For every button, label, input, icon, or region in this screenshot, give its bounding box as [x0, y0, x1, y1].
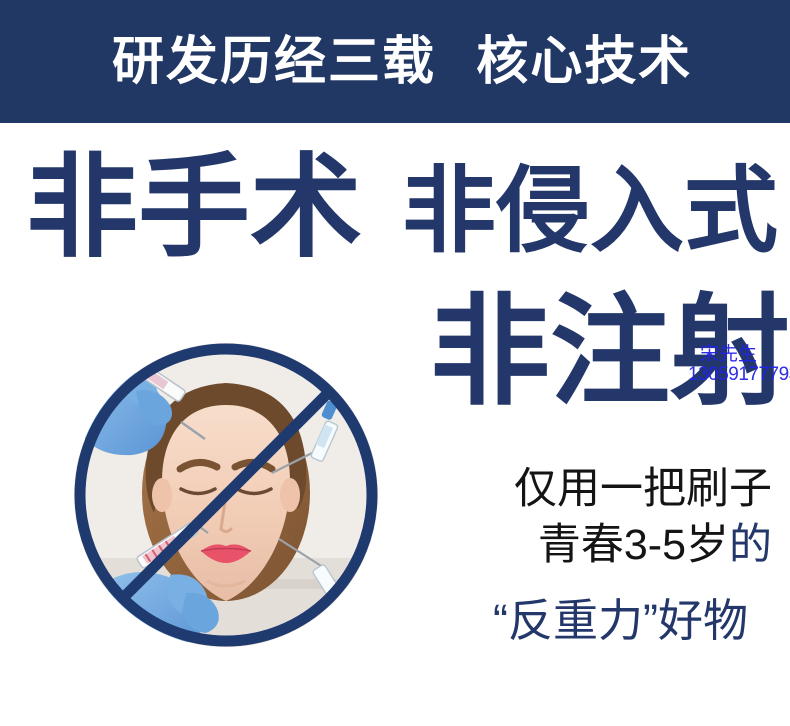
headline-non-injection: 非注射: [430, 292, 790, 412]
subcopy-block: 仅用一把刷子 青春3-5岁的: [392, 462, 772, 574]
subcopy-line-2-plain: 青春3-5岁: [538, 521, 729, 569]
header-banner: 研发历经三载 核心技术: [0, 0, 790, 123]
header-title: 研发历经三载 核心技术: [112, 36, 692, 88]
tagline-anti-gravity: “反重力”好物: [493, 598, 748, 643]
subcopy-line-1: 仅用一把刷子: [392, 462, 772, 518]
headline-non-invasive: 非侵入式: [402, 164, 778, 258]
subcopy-line-2: 青春3-5岁的: [392, 518, 772, 574]
prohibition-no-icon: [74, 343, 378, 647]
no-injection-photo: [74, 343, 378, 647]
promo-poster: 研发历经三载 核心技术 非手术 非侵入式 非注射 宋先生 13059177793: [0, 0, 790, 726]
subcopy-line-2-accent: 的: [729, 521, 772, 569]
headline-non-surgical: 非手术: [26, 152, 362, 264]
